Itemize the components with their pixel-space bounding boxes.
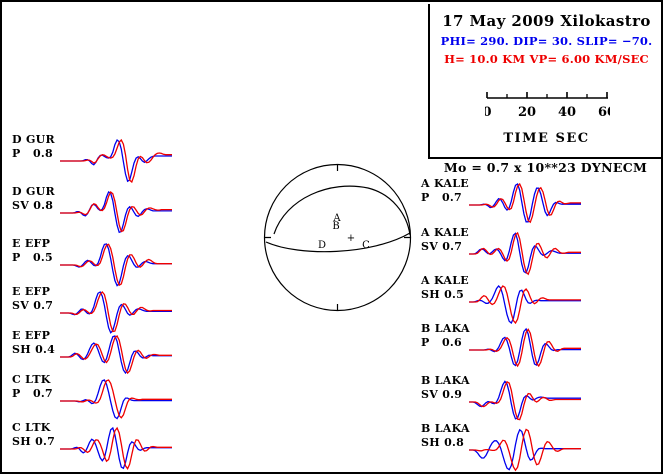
waveform-observed	[60, 140, 172, 182]
trace-label: A KALE P 0.7	[421, 177, 469, 204]
trace-label: B LAKA P 0.6	[421, 322, 470, 349]
event-info-box: 17 May 2009 Xilokastro PHI= 290. DIP= 30…	[428, 4, 661, 159]
trace-label: D GUR P 0.8	[12, 133, 55, 160]
waveform-plot	[60, 179, 172, 235]
waveform-plot	[469, 316, 581, 372]
waveform-observed	[60, 380, 172, 418]
trace-label: A KALE SH 0.5	[421, 274, 469, 301]
trace-label: C LTK SH 0.7	[12, 421, 55, 448]
station-letter-b: B	[332, 221, 339, 232]
trace-label: E EFP SV 0.7	[12, 285, 53, 312]
time-tick-20: 20	[518, 105, 536, 120]
fault-plane-parameters: PHI= 290. DIP= 30. SLIP= −70.	[430, 34, 663, 48]
trace-label: E EFP P 0.5	[12, 237, 53, 264]
time-axis-label: TIME SEC	[430, 131, 663, 146]
event-title: 17 May 2009 Xilokastro	[430, 12, 663, 30]
waveform-plot	[60, 127, 172, 183]
waveform-observed	[469, 429, 581, 470]
time-tick-60: 60	[598, 105, 610, 120]
waveform-observed	[469, 382, 581, 420]
depth-velocity-parameters: H= 10.0 KM VP= 6.00 KM/SEC	[430, 52, 663, 66]
figure-canvas: 17 May 2009 Xilokastro PHI= 290. DIP= 30…	[0, 0, 663, 474]
trace-label: C LTK P 0.7	[12, 373, 53, 400]
trace-label: E EFP SH 0.4	[12, 329, 55, 356]
nodal-plane-2	[274, 186, 410, 235]
station-letter-d: D	[318, 240, 326, 251]
waveform-plot	[469, 171, 581, 227]
waveform-observed	[469, 329, 581, 366]
trace-label: B LAKA SV 0.9	[421, 374, 470, 401]
trace-label: A KALE SV 0.7	[421, 226, 469, 253]
focal-mechanism-beachball: A B C D +	[260, 160, 415, 315]
nodal-plane-1	[266, 233, 410, 252]
time-tick-0: 0	[485, 105, 492, 120]
station-letter-c: C	[362, 240, 370, 251]
waveform-observed	[60, 428, 172, 469]
time-tick-40: 40	[558, 105, 576, 120]
epicenter-cross-marker: +	[347, 233, 355, 244]
trace-label: D GUR SV 0.8	[12, 185, 55, 212]
waveform-plot	[60, 415, 172, 471]
trace-label: B LAKA SH 0.8	[421, 422, 470, 449]
waveform-plot	[469, 416, 581, 472]
